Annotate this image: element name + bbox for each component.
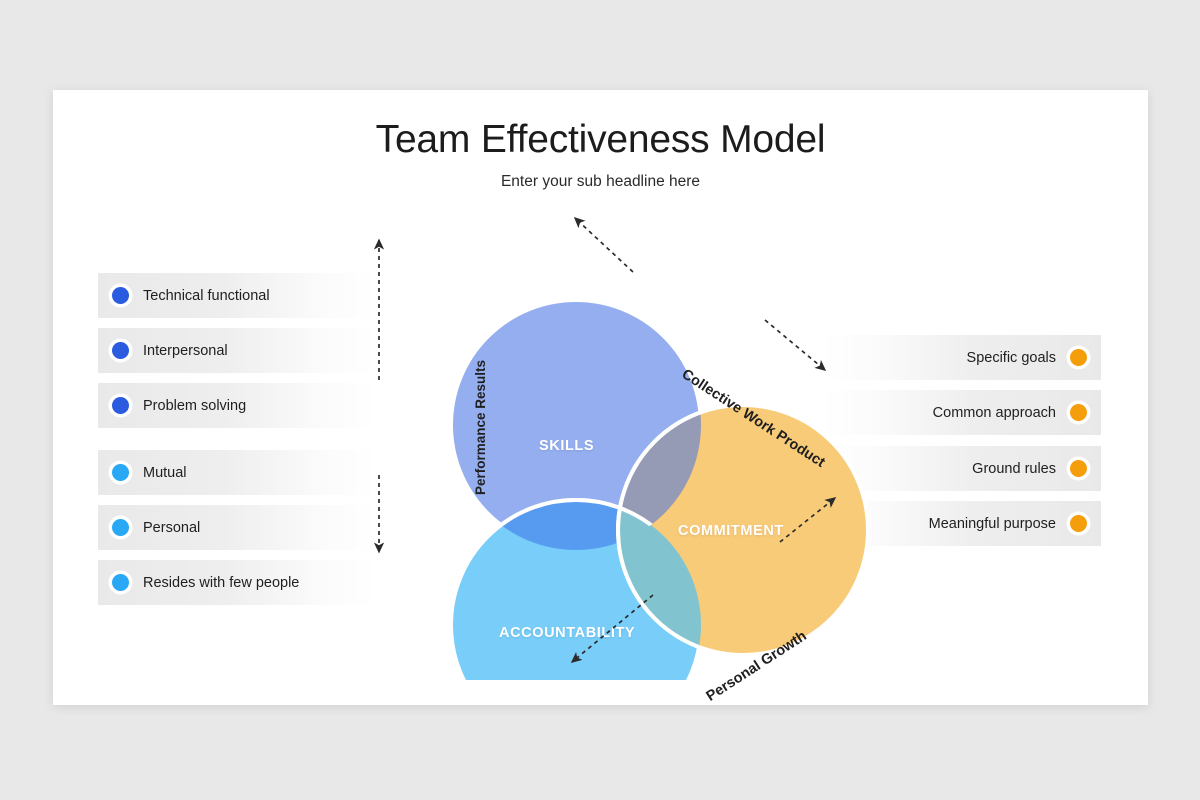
venn-label-skills: SKILLS: [539, 438, 594, 454]
bullet-dot: [1070, 460, 1087, 477]
venn-label-commitment: COMMITMENT: [678, 523, 784, 539]
venn-svg: [421, 210, 881, 680]
bullet-dot: [112, 464, 129, 481]
list-item-label: Common approach: [933, 405, 1056, 421]
bullet-dot: [112, 519, 129, 536]
bullet-dot: [112, 574, 129, 591]
list-item[interactable]: Interpersonal: [98, 328, 378, 373]
list-item-label: Interpersonal: [143, 343, 228, 359]
list-item-label: Resides with few people: [143, 575, 299, 591]
bullet-dot: [112, 397, 129, 414]
list-item-label: Meaningful purpose: [929, 516, 1056, 532]
list-item[interactable]: Personal: [98, 505, 378, 550]
bullet-dot: [1070, 404, 1087, 421]
page-subtitle: Enter your sub headline here: [53, 173, 1148, 191]
list-item-label: Personal: [143, 520, 200, 536]
bullet-dot: [112, 287, 129, 304]
list-item-label: Technical functional: [143, 288, 270, 304]
list-item[interactable]: Technical functional: [98, 273, 378, 318]
bullet-dot: [112, 342, 129, 359]
bullet-dot: [1070, 515, 1087, 532]
venn-diagram: SKILLS COMMITMENT ACCOUNTABILITY: [421, 210, 881, 680]
page-title: Team Effectiveness Model: [53, 118, 1148, 162]
list-item-label: Specific goals: [967, 350, 1056, 366]
list-item-label: Mutual: [143, 465, 187, 481]
slide-card: Team Effectiveness Model Enter your sub …: [53, 90, 1148, 705]
list-item[interactable]: Problem solving: [98, 383, 378, 428]
list-item[interactable]: Mutual: [98, 450, 378, 495]
venn-label-accountability: ACCOUNTABILITY: [499, 625, 635, 641]
list-item-label: Problem solving: [143, 398, 246, 414]
bullet-dot: [1070, 349, 1087, 366]
list-item-label: Ground rules: [972, 461, 1056, 477]
list-item[interactable]: Resides with few people: [98, 560, 378, 605]
axis-label-performance-results: Performance Results: [473, 360, 488, 495]
